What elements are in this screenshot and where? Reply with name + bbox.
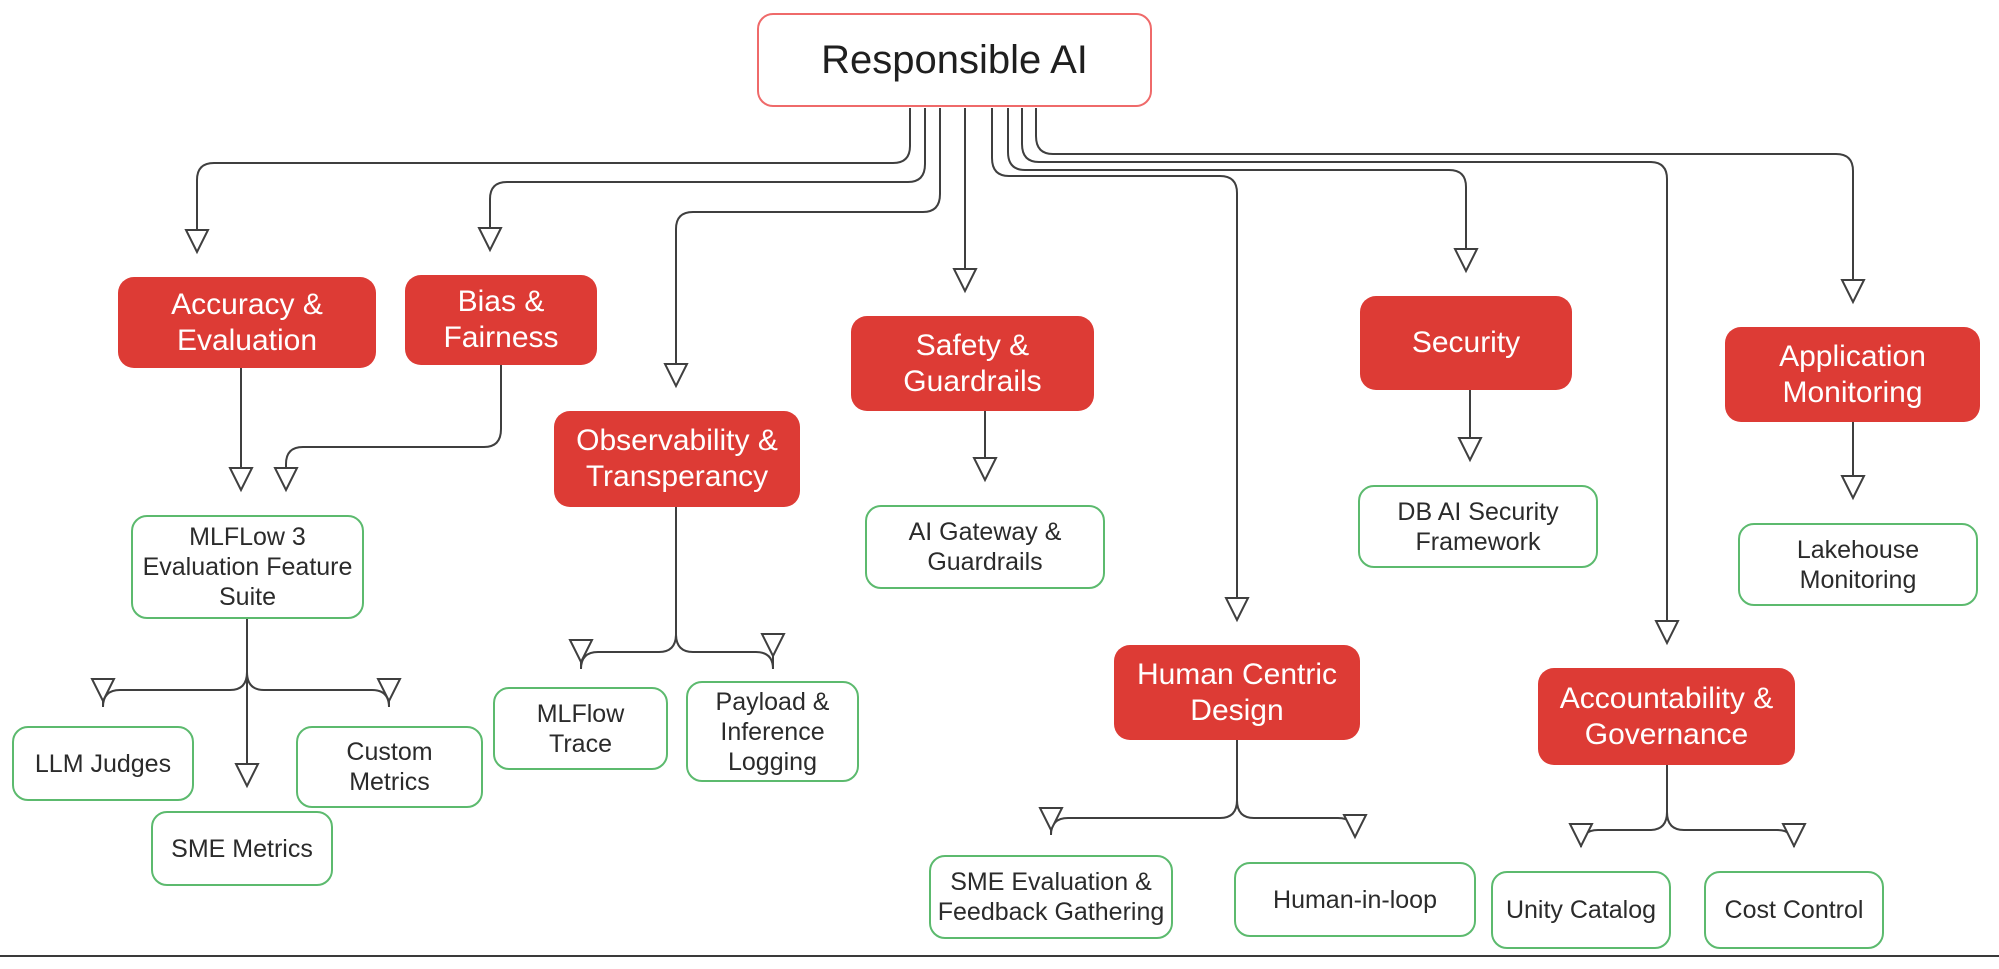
bias-to-mlflow3 xyxy=(286,365,501,490)
node-humancentric[interactable]: Human Centric Design xyxy=(1114,645,1360,740)
node-aigateway[interactable]: AI Gateway & Guardrails xyxy=(865,505,1105,589)
root-to-accuracy xyxy=(197,108,910,252)
arrow-payload xyxy=(762,634,784,656)
arrow-safety xyxy=(954,269,976,291)
arrow-accuracy xyxy=(186,230,208,252)
node-observability[interactable]: Observability & Transperancy xyxy=(554,411,800,507)
root-to-security xyxy=(1008,108,1466,271)
arrow-mlflowtrace xyxy=(570,640,592,662)
node-custommetrics[interactable]: Custom Metrics xyxy=(296,726,483,808)
arrow-aigateway xyxy=(974,458,996,480)
node-smeeval[interactable]: SME Evaluation & Feedback Gathering xyxy=(929,855,1173,939)
node-smemetrics[interactable]: SME Metrics xyxy=(151,811,333,886)
arrow-lakehouse xyxy=(1842,476,1864,498)
node-costcontrol[interactable]: Cost Control xyxy=(1704,871,1884,949)
arrow-costcontrol xyxy=(1783,824,1805,846)
node-mlflow3[interactable]: MLFLow 3 Evaluation Feature Suite xyxy=(131,515,364,619)
arrow-humanloop xyxy=(1344,815,1366,837)
node-bias[interactable]: Bias & Fairness xyxy=(405,275,597,365)
arrow-smeeval xyxy=(1040,808,1062,830)
node-humanloop[interactable]: Human-in-loop xyxy=(1234,862,1476,937)
arrow-llmjudges xyxy=(92,679,114,701)
node-root[interactable]: Responsible AI xyxy=(757,13,1152,107)
diagram-canvas: Responsible AIAccuracy & EvaluationBias … xyxy=(0,0,1999,969)
node-llmjudges[interactable]: LLM Judges xyxy=(12,726,194,801)
arrow-custommetrics xyxy=(378,679,400,701)
hc-to-smeeval xyxy=(1051,740,1237,835)
node-dbaisec[interactable]: DB AI Security Framework xyxy=(1358,485,1598,568)
node-appmon[interactable]: Application Monitoring xyxy=(1725,327,1980,422)
arrow-bias xyxy=(479,228,501,250)
acct-to-unity xyxy=(1581,765,1667,847)
arrow-humancentric xyxy=(1226,598,1248,620)
hc-to-humanloop xyxy=(1237,740,1355,837)
mlflow3-to-custom xyxy=(247,619,389,707)
node-mlflowtrace[interactable]: MLFlow Trace xyxy=(493,687,668,770)
root-to-appmon xyxy=(1036,108,1853,302)
node-accuracy[interactable]: Accuracy & Evaluation xyxy=(118,277,376,368)
node-accountability[interactable]: Accountability & Governance xyxy=(1538,668,1795,765)
arrow-observability xyxy=(665,364,687,386)
arrow-mlflow3-b xyxy=(275,468,297,490)
arrow-appmon xyxy=(1842,280,1864,302)
node-security[interactable]: Security xyxy=(1360,296,1572,390)
node-unitycatalog[interactable]: Unity Catalog xyxy=(1491,871,1671,949)
arrow-mlflow3-a xyxy=(230,468,252,490)
arrow-smemetrics xyxy=(236,764,258,786)
obs-to-mlflowtrace xyxy=(581,507,676,669)
root-to-bias xyxy=(490,108,925,250)
footer-divider xyxy=(0,955,1999,957)
node-lakehouse[interactable]: Lakehouse Monitoring xyxy=(1738,523,1978,606)
arrow-unitycatalog xyxy=(1570,824,1592,846)
node-payload[interactable]: Payload & Inference Logging xyxy=(686,681,859,782)
arrow-security xyxy=(1455,249,1477,271)
acct-to-cost xyxy=(1667,765,1794,847)
arrow-accountability xyxy=(1656,621,1678,643)
obs-to-payload xyxy=(676,507,773,669)
node-safety[interactable]: Safety & Guardrails xyxy=(851,316,1094,411)
mlflow3-to-llmjudges xyxy=(103,619,247,707)
arrow-dbaisec xyxy=(1459,438,1481,460)
